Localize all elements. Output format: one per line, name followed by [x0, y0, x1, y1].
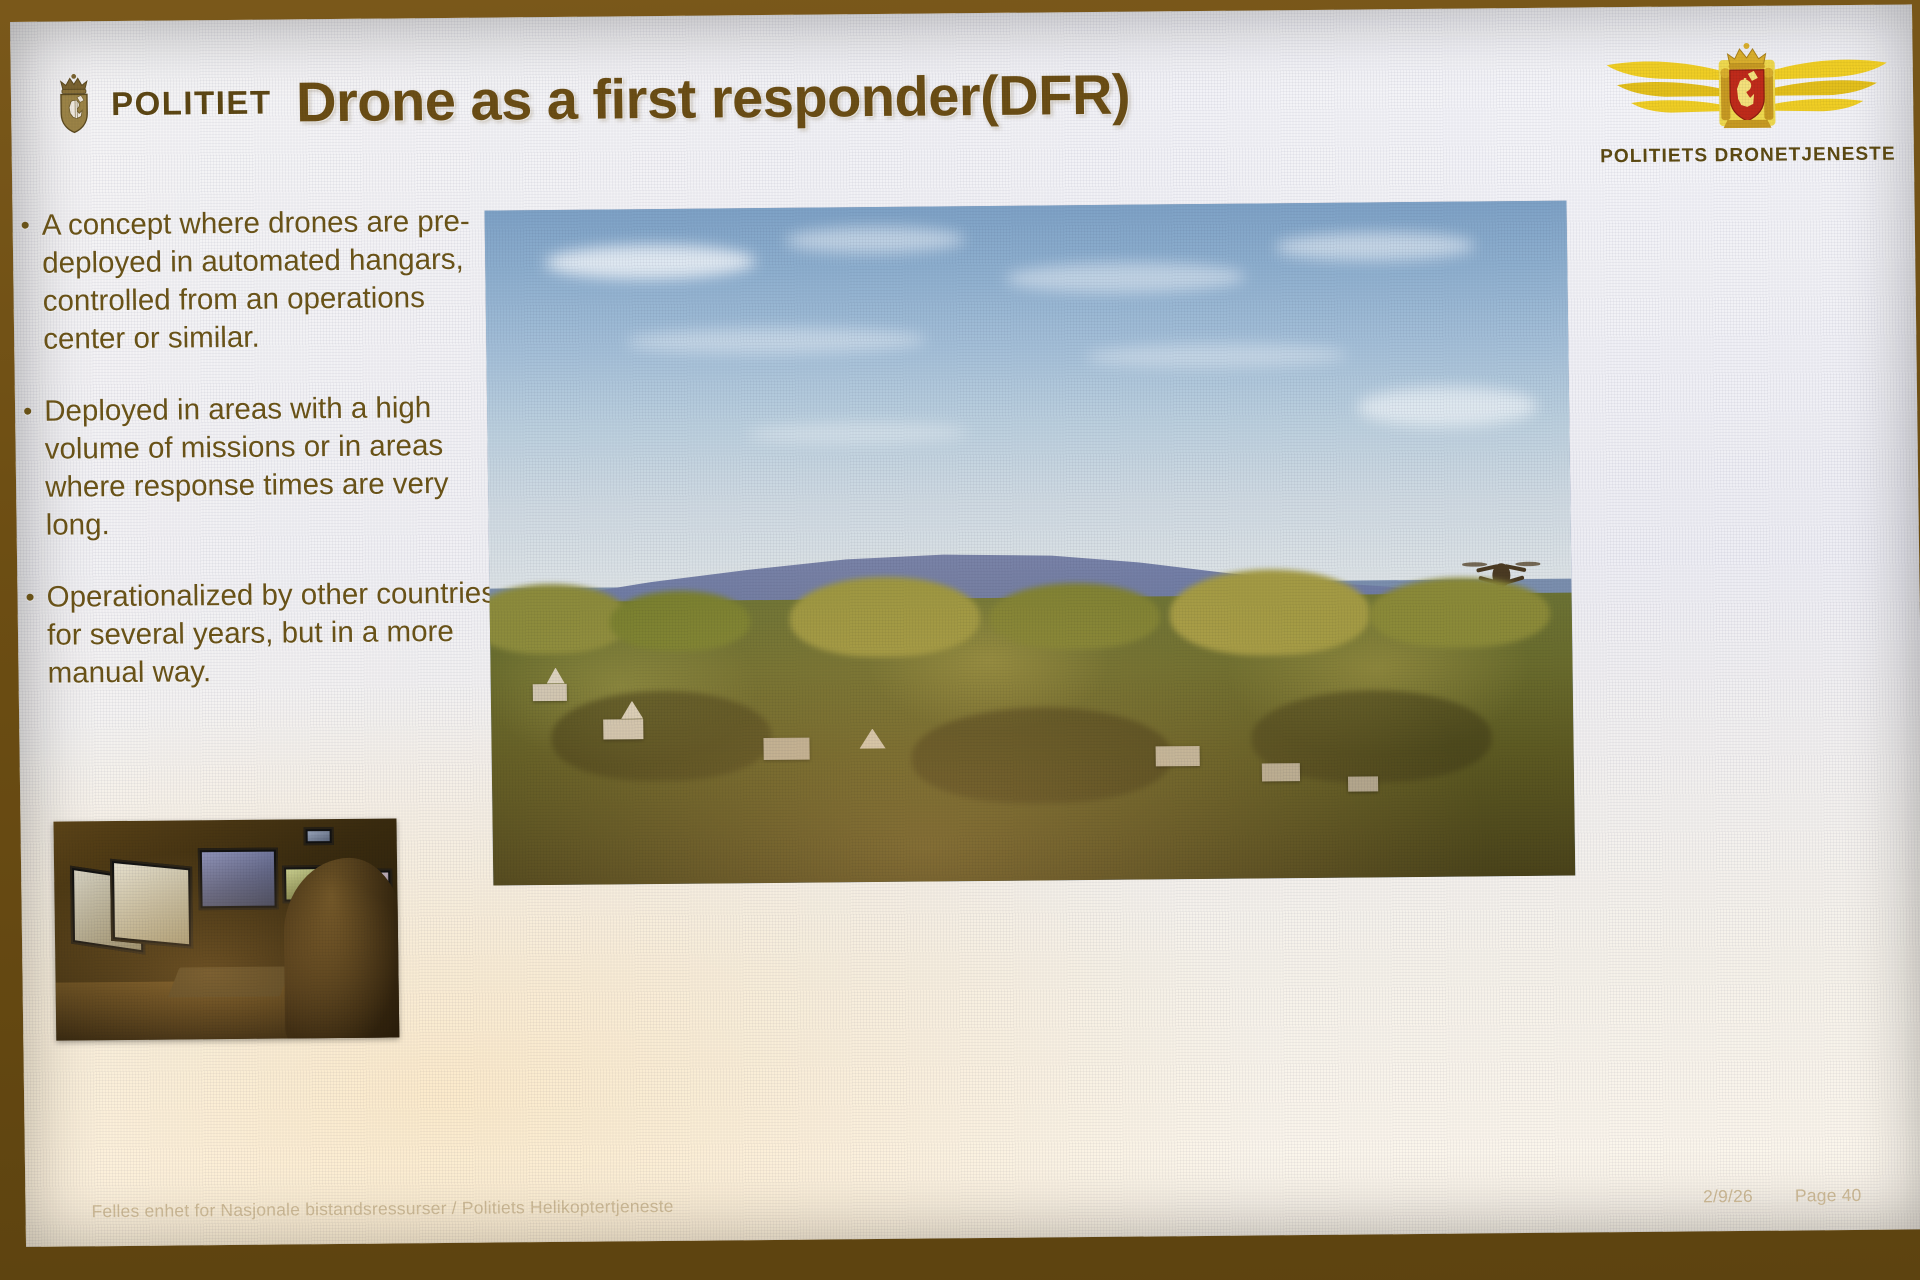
house	[533, 683, 567, 700]
monitor	[110, 859, 193, 949]
main-photo	[485, 201, 1576, 886]
tree-cluster	[789, 576, 980, 658]
photo-forest	[490, 592, 1576, 885]
footer-organisation: Felles enhet for Nasjonale bistandsressu…	[91, 1186, 1703, 1222]
house-roof	[546, 667, 564, 683]
tree-cluster	[1169, 568, 1370, 656]
monitor-screen	[308, 831, 330, 841]
house-roof	[859, 728, 885, 748]
monitor	[304, 827, 334, 845]
drone-service-logo: POLITIETS DRONETJENESTE	[1596, 33, 1898, 169]
tree-cluster	[551, 689, 772, 781]
slide-title: Drone as a first responder(DFR)	[296, 62, 1131, 135]
keyboard	[168, 966, 292, 997]
politiet-logo: POLITIET	[51, 72, 272, 136]
house	[1262, 763, 1300, 781]
house	[1348, 776, 1378, 791]
bullet-item: • A concept where drones are pre-deploye…	[20, 202, 502, 359]
house	[1156, 746, 1200, 766]
operator-silhouette	[283, 857, 399, 1040]
tree-cluster	[989, 582, 1160, 650]
tree-cluster	[609, 590, 750, 651]
tree-cluster	[1369, 576, 1550, 648]
footer-date: 2/9/26	[1703, 1186, 1753, 1207]
house	[603, 719, 643, 739]
drone-service-name: POLITIETS DRONETJENESTE	[1598, 144, 1898, 169]
bullet-text: A concept where drones are pre-deployed …	[42, 202, 503, 358]
bullet-item: • Deployed in areas with a high volume o…	[23, 389, 505, 546]
tree-cluster	[911, 706, 1172, 804]
bullet-text: Deployed in areas with a high volume of …	[44, 389, 505, 545]
winged-crest-icon	[1602, 124, 1894, 144]
bullet-list: • A concept where drones are pre-deploye…	[20, 202, 507, 727]
projection-photo-frame: POLITIET Drone as a first responder(DFR)	[0, 0, 1920, 1280]
bullet-marker-icon: •	[23, 393, 34, 545]
house	[763, 737, 809, 759]
inset-photo-operations-center	[53, 818, 399, 1040]
bullet-marker-icon: •	[25, 579, 36, 693]
politiet-wordmark: POLITIET	[111, 84, 272, 123]
bullet-text: Operationalized by other countries for s…	[46, 575, 506, 693]
footer-page-number: Page 40	[1795, 1185, 1862, 1207]
monitor-screen	[114, 863, 189, 944]
projected-slide: POLITIET Drone as a first responder(DFR)	[10, 4, 1920, 1246]
monitor-screen-map	[202, 852, 275, 907]
monitor	[198, 848, 279, 911]
norwegian-coat-of-arms-icon	[51, 73, 98, 135]
bullet-marker-icon: •	[20, 207, 31, 359]
bullet-item: • Operationalized by other countries for…	[25, 575, 506, 694]
slide-footer: Felles enhet for Nasjonale bistandsressu…	[25, 1184, 1920, 1223]
